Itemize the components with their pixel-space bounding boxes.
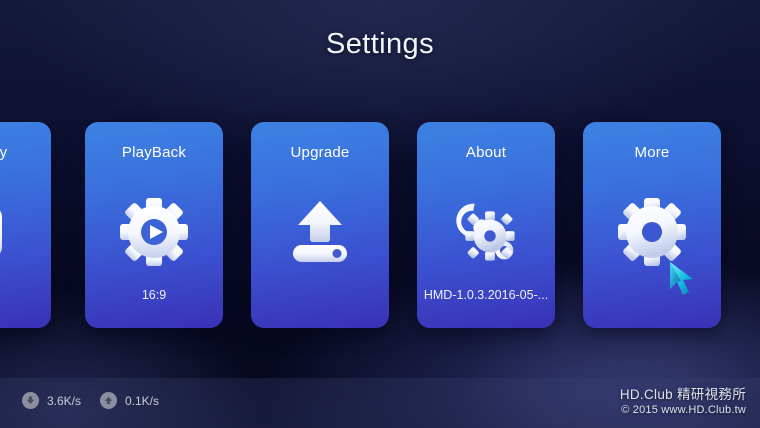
upload-speed-label: 0.1K/s	[125, 394, 159, 408]
card-title-upgrade: Upgrade	[251, 144, 389, 161]
settings-screen: Settings Display	[0, 0, 760, 428]
page-title: Settings	[0, 28, 760, 61]
settings-card-display[interactable]: Display 60Hz	[0, 122, 51, 328]
settings-card-upgrade[interactable]: Upgrade	[251, 122, 389, 328]
settings-card-playback[interactable]: PlayBack	[85, 122, 223, 328]
network-upload-status: 0.1K/s	[100, 392, 159, 409]
card-title-about: About	[417, 144, 555, 161]
card-subtitle-playback: 16:9	[85, 288, 223, 302]
settings-card-about[interactable]: About	[417, 122, 555, 328]
watermark-line-1: HD.Club 精研視務所	[620, 387, 746, 404]
card-subtitle-display: 60Hz	[0, 288, 51, 302]
download-speed-label: 3.6K/s	[47, 394, 81, 408]
settings-card-more[interactable]: More	[583, 122, 721, 328]
display-icon	[0, 184, 51, 280]
gear-play-icon	[85, 184, 223, 280]
network-download-status: 3.6K/s	[22, 392, 81, 409]
arrow-up-icon	[100, 392, 117, 409]
watermark: HD.Club 精研視務所 © 2015 www.HD.Club.tw	[620, 387, 746, 418]
card-title-more: More	[583, 144, 721, 161]
wrench-gear-icon	[417, 184, 555, 280]
watermark-line-2: © 2015 www.HD.Club.tw	[620, 404, 746, 418]
upload-icon	[251, 184, 389, 280]
card-title-display: Display	[0, 144, 51, 161]
card-subtitle-about: HMD-1.0.3.2016-05-...	[417, 288, 555, 302]
arrow-down-icon	[22, 392, 39, 409]
settings-card-rail: Display 60Hz P	[0, 122, 760, 328]
card-title-playback: PlayBack	[85, 144, 223, 161]
gear-icon	[583, 184, 721, 280]
